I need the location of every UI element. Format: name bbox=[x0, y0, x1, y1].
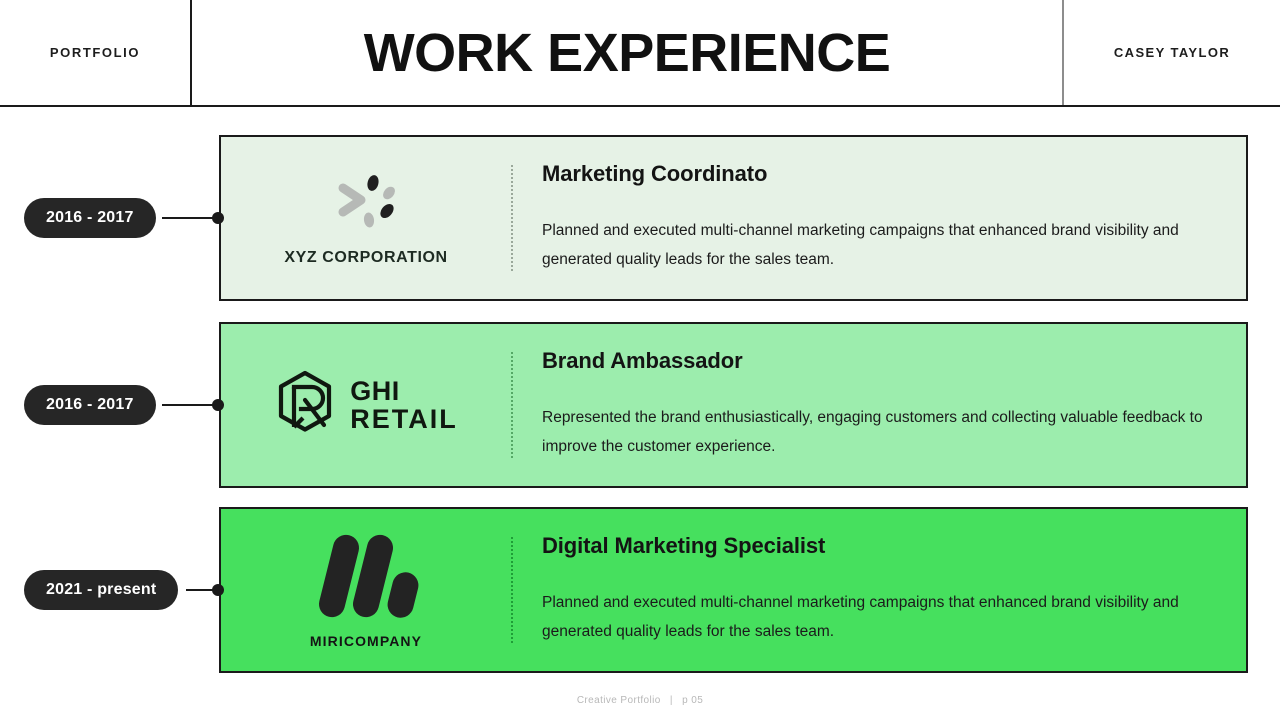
portfolio-label: PORTFOLIO bbox=[50, 45, 140, 60]
company-name-label: MIRICOMPANY bbox=[310, 633, 422, 649]
author-name-label: CASEY TAYLOR bbox=[1114, 45, 1230, 60]
date-badge-label: 2016 - 2017 bbox=[46, 396, 134, 414]
company-name-label: GHI RETAIL bbox=[350, 377, 458, 433]
timeline-connector-dot bbox=[212, 212, 224, 224]
experience-card[interactable]: MIRICOMPANY Digital Marketing Specialist… bbox=[219, 507, 1248, 673]
experience-card[interactable]: GHI RETAIL Brand Ambassador Represented … bbox=[219, 322, 1248, 488]
experience-entry: 2016 - 2017 bbox=[0, 135, 1280, 301]
experience-timeline: 2016 - 2017 bbox=[0, 107, 1280, 720]
experience-entry: 2021 - present MIRICOMPANY Digital Marke… bbox=[0, 507, 1280, 673]
page-header: PORTFOLIO WORK EXPERIENCE CASEY TAYLOR bbox=[0, 0, 1280, 107]
footer-left-label: Creative Portfolio bbox=[577, 695, 661, 706]
company-name-line1: GHI bbox=[350, 377, 458, 405]
company-logo-area: MIRICOMPANY bbox=[221, 509, 511, 671]
timeline-connector-line bbox=[162, 217, 218, 219]
experience-entry: 2016 - 2017 GHI bbox=[0, 322, 1280, 488]
role-title: Marketing Coordinato bbox=[542, 161, 1212, 187]
footer-separator: | bbox=[670, 695, 673, 706]
company-logo-area: GHI RETAIL bbox=[221, 324, 511, 486]
card-text-area: Marketing Coordinato Planned and execute… bbox=[513, 137, 1246, 299]
date-badge: 2021 - present bbox=[24, 570, 178, 610]
role-description: Represented the brand enthusiastically, … bbox=[542, 404, 1212, 461]
ghi-hexagon-r-icon bbox=[274, 369, 336, 442]
page-title: WORK EXPERIENCE bbox=[364, 26, 891, 80]
footer-page-number: p 05 bbox=[682, 695, 703, 706]
date-badge-label: 2016 - 2017 bbox=[46, 209, 134, 227]
card-text-area: Brand Ambassador Represented the brand e… bbox=[513, 324, 1246, 486]
date-badge: 2016 - 2017 bbox=[24, 385, 156, 425]
xyz-burst-icon bbox=[331, 170, 401, 239]
card-text-area: Digital Marketing Specialist Planned and… bbox=[513, 509, 1246, 671]
page-footer: Creative Portfolio | p 05 bbox=[0, 695, 1280, 706]
header-right-section: CASEY TAYLOR bbox=[1064, 0, 1280, 105]
company-name-line2: RETAIL bbox=[350, 405, 458, 433]
timeline-connector-dot bbox=[212, 399, 224, 411]
header-left-section: PORTFOLIO bbox=[0, 0, 192, 105]
role-title: Brand Ambassador bbox=[542, 348, 1212, 374]
date-badge-label: 2021 - present bbox=[46, 581, 156, 599]
role-title: Digital Marketing Specialist bbox=[542, 533, 1212, 559]
role-description: Planned and executed multi-channel marke… bbox=[542, 589, 1212, 646]
company-logo-area: XYZ CORPORATION bbox=[221, 137, 511, 299]
timeline-connector-dot bbox=[212, 584, 224, 596]
header-center-section: WORK EXPERIENCE bbox=[192, 0, 1064, 105]
date-badge: 2016 - 2017 bbox=[24, 198, 156, 238]
experience-card[interactable]: XYZ CORPORATION Marketing Coordinato Pla… bbox=[219, 135, 1248, 301]
role-description: Planned and executed multi-channel marke… bbox=[542, 217, 1212, 274]
miri-bars-icon bbox=[310, 532, 422, 625]
company-name-label: XYZ CORPORATION bbox=[284, 249, 447, 267]
timeline-connector-line bbox=[162, 404, 218, 406]
